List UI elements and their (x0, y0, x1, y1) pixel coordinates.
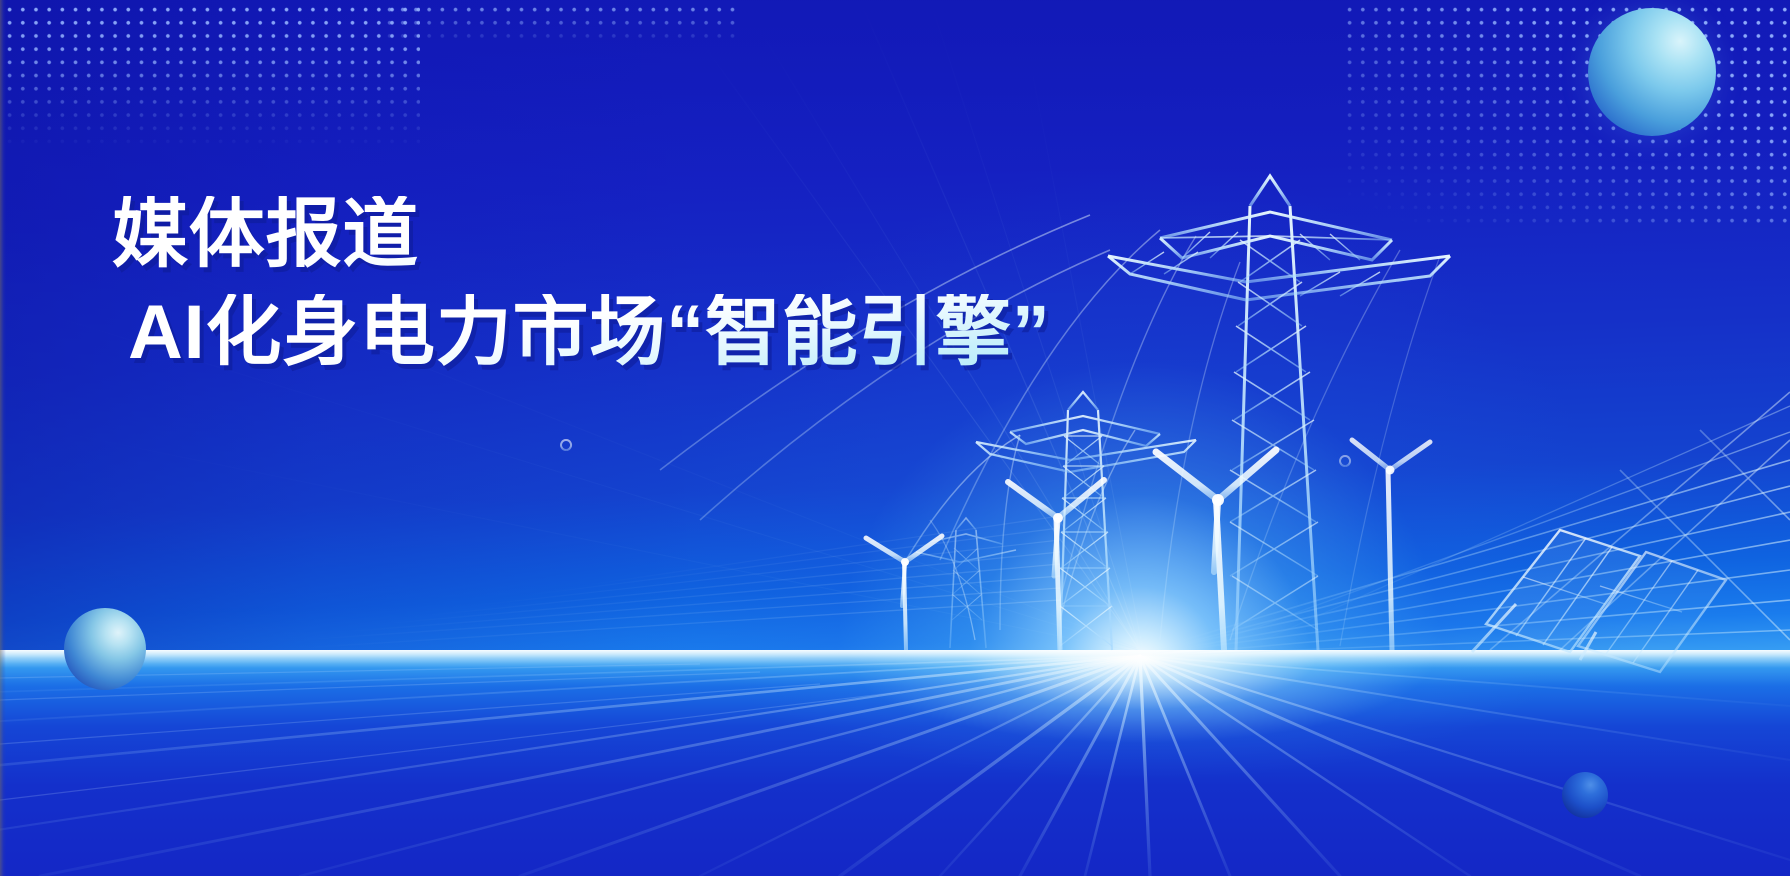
ground-plane (0, 650, 1790, 876)
halftone-dots-top-middle-icon (380, 0, 740, 46)
decorative-sphere-bottom-right (1562, 772, 1608, 818)
banner-title-line-2: AI化身电力市场“智能引擎” (128, 294, 1051, 372)
banner-title-block: 媒体报道 AI化身电力市场“智能引擎” (112, 196, 1051, 371)
media-report-banner: 媒体报道 AI化身电力市场“智能引擎” (0, 0, 1790, 876)
banner-title-line-1: 媒体报道 (112, 196, 1051, 274)
decorative-sphere-left (64, 608, 146, 690)
decorative-sphere-top-right (1588, 8, 1716, 136)
left-edge-vignette (0, 0, 6, 876)
halftone-dots-top-right-icon (1340, 0, 1790, 230)
halftone-dots-icon (0, 0, 420, 150)
horizon-sheen (0, 650, 1790, 668)
